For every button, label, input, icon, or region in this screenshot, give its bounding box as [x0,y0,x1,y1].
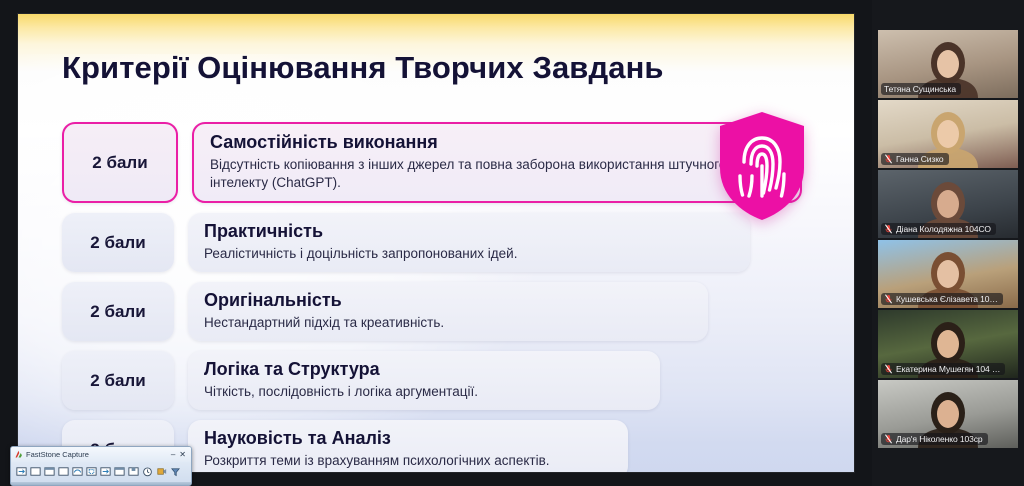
criterion-description: Розкриття теми із врахуванням психологіч… [204,452,612,470]
participant-nameplate: Кушевська Єлізавета 10… [881,293,1003,305]
criterion-score-box: 2 бали [62,282,174,341]
participant-name: Екатерина Мушегян 104 … [896,364,1000,374]
participant-name: Кушевська Єлізавета 10… [896,294,998,304]
participant-nameplate: Дар'я Ніколенко 103ср [881,433,988,445]
criterion-description: Реалістичність і доцільність запропонова… [204,245,734,263]
criterion-score-box: 2 бали [62,122,178,203]
capture-fixed-region-icon[interactable] [85,465,98,478]
criterion-title: Логіка та Структура [204,359,644,381]
criterion-score-box: 2 бали [62,213,174,272]
participant-filmstrip[interactable]: Тетяна СущинськаГанна СизкоДіана Колодяж… [872,0,1024,486]
participant-tile[interactable]: Дар'я Ніколенко 103ср [878,380,1018,448]
mic-muted-icon [884,294,893,304]
criterion-score-label: 2 бали [92,153,147,173]
criterion-title: Самостійність виконання [210,132,784,154]
participant-name: Тетяна Сущинська [884,84,956,94]
participant-tile[interactable]: Діана Колодяжна 104СО [878,170,1018,238]
capture-scrolling-window-icon[interactable] [99,465,112,478]
criterion-title: Оригінальність [204,290,692,312]
criterion-description: Відсутність копіювання з інших джерел та… [210,156,784,192]
close-button[interactable]: ✕ [177,451,188,459]
mic-muted-icon [884,224,893,234]
capture-window-object-icon[interactable] [43,465,56,478]
presentation-slide: Критерії Оцінювання Творчих Завдань 2 ба… [18,14,854,472]
participant-nameplate: Ганна Сизко [881,153,949,165]
criterion-content-box: ОригінальністьНестандартний підхід та кр… [188,282,708,341]
criterion-row: 2 балиОригінальністьНестандартний підхід… [62,282,802,341]
participant-name: Дар'я Ніколенко 103ср [896,434,983,444]
criterion-content-box: Науковість та АналізРозкриття теми із вр… [188,420,628,472]
capture-full-screen-icon[interactable] [29,465,42,478]
minimize-button[interactable]: – [169,451,177,459]
criterion-row: 2 балиПрактичністьРеалістичність і доціл… [62,213,802,272]
participant-name: Ганна Сизко [896,154,944,164]
screen-recorder-icon[interactable] [155,465,168,478]
criterion-content-box: Самостійність виконанняВідсутність копію… [192,122,802,203]
criterion-score-label: 2 бали [90,371,145,391]
participant-tile[interactable]: Ганна Сизко [878,100,1018,168]
participant-name: Діана Колодяжна 104СО [896,224,991,234]
criterion-description: Нестандартний підхід та креативність. [204,314,692,332]
participant-nameplate: Екатерина Мушегян 104 … [881,363,1005,375]
criteria-list: 2 балиСамостійність виконанняВідсутність… [62,122,802,472]
capture-freehand-region-icon[interactable] [71,465,84,478]
criterion-row: 2 балиЛогіка та СтруктураЧіткість, послі… [62,351,802,410]
criterion-content-box: ПрактичністьРеалістичність і доцільність… [188,213,750,272]
meeting-window: Критерії Оцінювання Творчих Завдань 2 ба… [0,0,1024,486]
fingerprint-shield-icon [716,110,808,222]
delay-timer-icon[interactable] [141,465,154,478]
criterion-score-label: 2 бали [90,233,145,253]
mic-muted-icon [884,364,893,374]
faststone-capture-toolbar[interactable]: FastStone Capture – ✕ [10,446,192,486]
criterion-score-label: 2 бали [90,302,145,322]
criterion-row: 2 балиСамостійність виконанняВідсутність… [62,122,802,203]
criterion-description: Чіткість, послідовність і логіка аргумен… [204,383,644,401]
participant-nameplate: Тетяна Сущинська [881,83,961,95]
shared-screen-stage[interactable]: Критерії Оцінювання Творчих Завдань 2 ба… [0,0,872,486]
participant-tile[interactable]: Тетяна Сущинська [878,30,1018,98]
page-title: Критерії Оцінювання Творчих Завдань [62,50,664,86]
open-new-window-icon[interactable] [113,465,126,478]
participant-tile[interactable]: Екатерина Мушегян 104 … [878,310,1018,378]
criterion-title: Науковість та Аналіз [204,428,612,450]
capture-rectangular-region-icon[interactable] [57,465,70,478]
faststone-footer-strip [11,482,191,485]
mic-muted-icon [884,434,893,444]
mic-muted-icon [884,154,893,164]
criterion-title: Практичність [204,221,734,243]
criterion-content-box: Логіка та СтруктураЧіткість, послідовніс… [188,351,660,410]
participant-tile[interactable]: Кушевська Єлізавета 10… [878,240,1018,308]
participant-nameplate: Діана Колодяжна 104СО [881,223,996,235]
faststone-app-icon [14,450,23,459]
save-icon[interactable] [127,465,140,478]
faststone-tool-row [11,462,191,478]
faststone-title: FastStone Capture [26,450,169,459]
criterion-score-box: 2 бали [62,351,174,410]
settings-icon[interactable] [169,465,182,478]
capture-active-window-icon[interactable] [15,465,28,478]
faststone-titlebar[interactable]: FastStone Capture – ✕ [11,447,191,462]
